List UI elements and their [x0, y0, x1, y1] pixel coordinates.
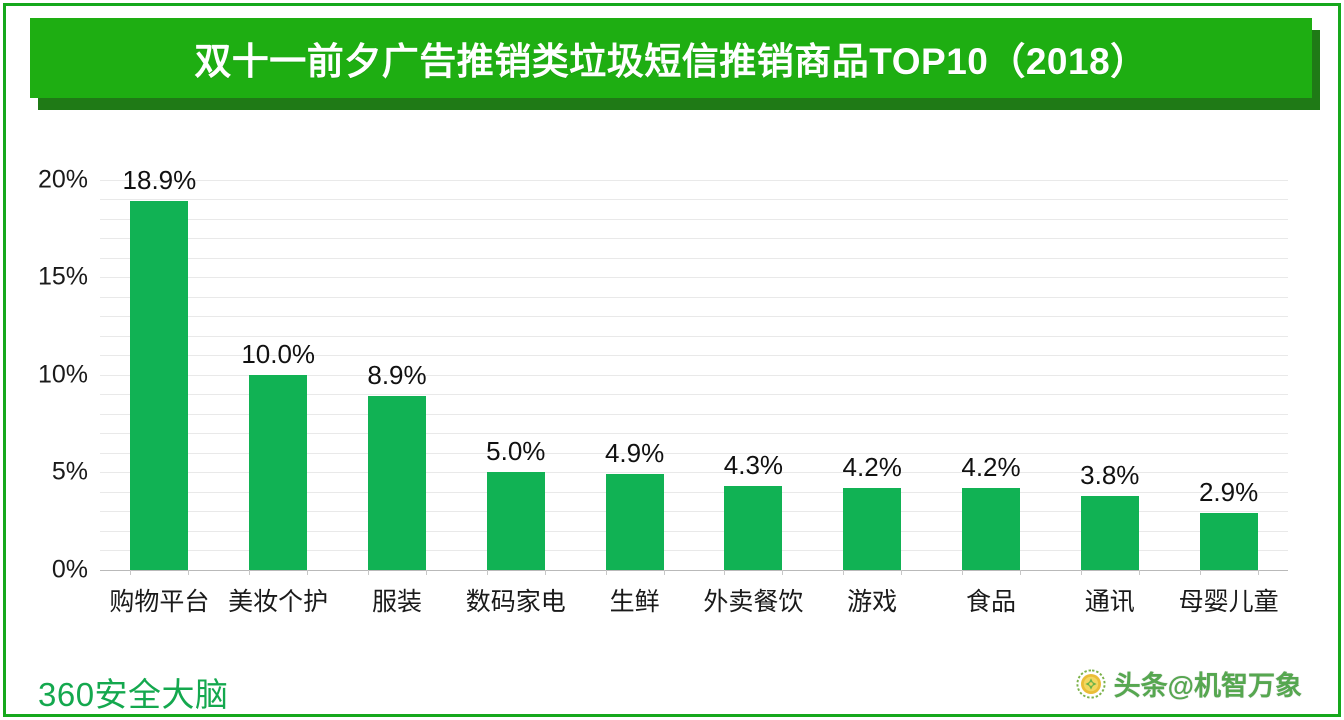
x-axis-labels: 购物平台美妆个护服装数码家电生鲜外卖餐饮游戏食品通讯母婴儿童 — [100, 582, 1288, 632]
watermark-text: 头条@机智万象 — [1114, 664, 1302, 703]
bar-value-label: 5.0% — [486, 438, 545, 464]
x-axis-category-label: 美妆个护 — [228, 582, 328, 618]
bar-value-label: 4.2% — [843, 454, 902, 480]
x-axis-category-label: 母婴儿童 — [1179, 582, 1279, 618]
y-axis-labels: 0%5%10%15%20% — [0, 170, 88, 570]
x-axis-tick — [606, 570, 607, 575]
bar[interactable] — [843, 488, 901, 570]
page-title: 双十一前夕广告推销类垃圾短信推销商品TOP10（2018） — [194, 31, 1147, 85]
bar[interactable] — [487, 472, 545, 570]
x-axis-category-label: 生鲜 — [610, 582, 660, 618]
bar-value-label: 4.2% — [961, 454, 1020, 480]
x-axis-tick — [901, 570, 902, 575]
bar-value-label: 3.8% — [1080, 462, 1139, 488]
bar-group[interactable]: 4.3% — [724, 170, 782, 570]
x-axis-tick — [664, 570, 665, 575]
bar-group[interactable]: 5.0% — [487, 170, 545, 570]
bar[interactable] — [130, 201, 188, 570]
bar-group[interactable]: 8.9% — [368, 170, 426, 570]
bar[interactable] — [368, 396, 426, 570]
x-axis-tick — [368, 570, 369, 575]
title-banner-body: 双十一前夕广告推销类垃圾短信推销商品TOP10（2018） — [30, 18, 1312, 98]
x-axis-category-label: 通讯 — [1085, 582, 1135, 618]
bar-value-label: 10.0% — [241, 341, 315, 367]
plot-area: 18.9%10.0%8.9%5.0%4.9%4.3%4.2%4.2%3.8%2.… — [100, 170, 1288, 570]
bar[interactable] — [724, 486, 782, 570]
x-axis-tick — [307, 570, 308, 575]
x-axis-line — [100, 570, 1288, 571]
x-axis-tick — [782, 570, 783, 575]
bar-group[interactable]: 4.2% — [843, 170, 901, 570]
bar-chart: 0%5%10%15%20% 18.9%10.0%8.9%5.0%4.9%4.3%… — [0, 150, 1344, 650]
x-axis-tick — [188, 570, 189, 575]
y-axis-tick-label: 15% — [38, 263, 88, 292]
y-axis-tick-label: 0% — [52, 556, 88, 585]
bar-value-label: 18.9% — [123, 167, 197, 193]
x-axis-tick — [843, 570, 844, 575]
bar-group[interactable]: 18.9% — [130, 170, 188, 570]
bar-value-label: 4.9% — [605, 440, 664, 466]
x-axis-tick — [724, 570, 725, 575]
bar-group[interactable]: 4.9% — [606, 170, 664, 570]
toutiao-badge-icon — [1075, 668, 1107, 700]
x-axis-tick — [249, 570, 250, 575]
y-axis-tick-label: 5% — [52, 458, 88, 487]
x-axis-category-label: 外卖餐饮 — [703, 582, 803, 618]
bar-value-label: 4.3% — [724, 452, 783, 478]
x-axis-tick — [426, 570, 427, 575]
y-axis-tick-label: 20% — [38, 165, 88, 194]
x-axis-tick — [1139, 570, 1140, 575]
x-axis-tick — [1258, 570, 1259, 575]
x-axis-category-label: 购物平台 — [109, 582, 209, 618]
bar[interactable] — [249, 375, 307, 570]
poster-root: 双十一前夕广告推销类垃圾短信推销商品TOP10（2018） 0%5%10%15%… — [0, 0, 1344, 720]
x-axis-tick — [487, 570, 488, 575]
x-axis-category-label: 游戏 — [847, 582, 897, 618]
bar-group[interactable]: 10.0% — [249, 170, 307, 570]
title-banner: 双十一前夕广告推销类垃圾短信推销商品TOP10（2018） — [30, 18, 1312, 98]
x-axis-category-label: 数码家电 — [466, 582, 566, 618]
x-axis-tick — [130, 570, 131, 575]
x-axis-tick — [545, 570, 546, 575]
bar-value-label: 2.9% — [1199, 479, 1258, 505]
x-axis-category-label: 服装 — [372, 582, 422, 618]
x-axis-tick — [1081, 570, 1082, 575]
y-axis-tick-label: 10% — [38, 360, 88, 389]
x-axis-tick — [1200, 570, 1201, 575]
bar[interactable] — [962, 488, 1020, 570]
bar[interactable] — [606, 474, 664, 570]
bar-group[interactable]: 3.8% — [1081, 170, 1139, 570]
bar-group[interactable]: 2.9% — [1200, 170, 1258, 570]
bar-value-label: 8.9% — [367, 362, 426, 388]
watermark: 头条@机智万象 — [1075, 664, 1302, 703]
bar[interactable] — [1081, 496, 1139, 570]
bar-group[interactable]: 4.2% — [962, 170, 1020, 570]
bar[interactable] — [1200, 513, 1258, 570]
x-axis-tick — [1020, 570, 1021, 575]
x-axis-category-label: 食品 — [966, 582, 1016, 618]
brand-label: 360安全大脑 — [38, 668, 229, 716]
x-axis-tick — [962, 570, 963, 575]
